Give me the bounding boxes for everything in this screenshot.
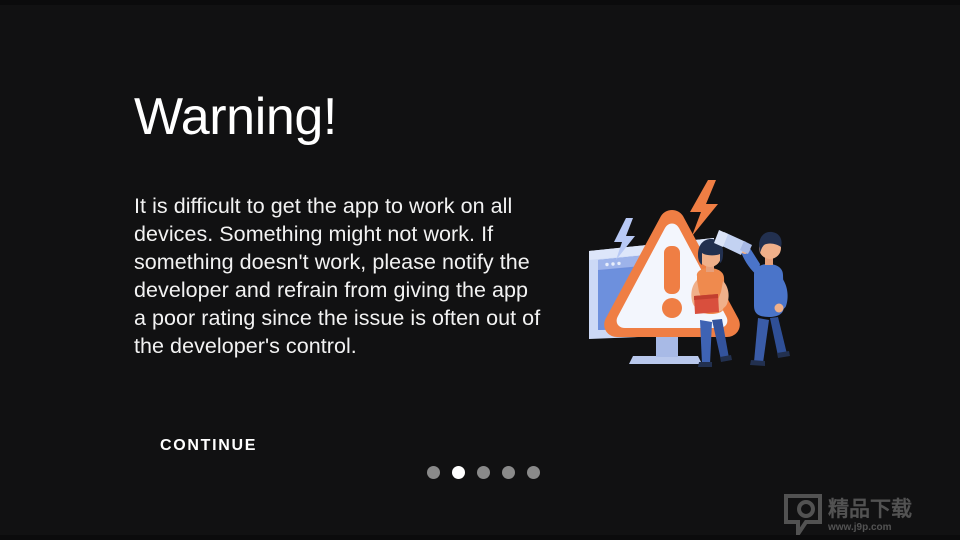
slide-content: Warning! It is difficult to get the app … xyxy=(134,0,564,540)
page-dot-5[interactable] xyxy=(527,466,540,479)
watermark-text-url: www.j9p.com xyxy=(827,522,892,533)
page-title: Warning! xyxy=(134,90,337,145)
continue-button[interactable]: CONTINUE xyxy=(160,437,257,455)
page-indicator xyxy=(427,466,540,479)
page-dot-1[interactable] xyxy=(427,466,440,479)
slide-body-text: It is difficult to get the app to work o… xyxy=(134,192,546,360)
watermark-text-cn: 精品下载 xyxy=(828,497,912,521)
site-watermark: 精品下载 www.j9p.com xyxy=(782,492,954,536)
warning-illustration xyxy=(578,168,808,383)
lightning-bolt-orange xyxy=(690,180,718,236)
watermark-logo-icon xyxy=(786,496,820,534)
page-dot-3[interactable] xyxy=(477,466,490,479)
page-dot-4[interactable] xyxy=(502,466,515,479)
onboarding-screen: Warning! It is difficult to get the app … xyxy=(0,0,960,540)
page-dot-2[interactable] xyxy=(452,466,465,479)
